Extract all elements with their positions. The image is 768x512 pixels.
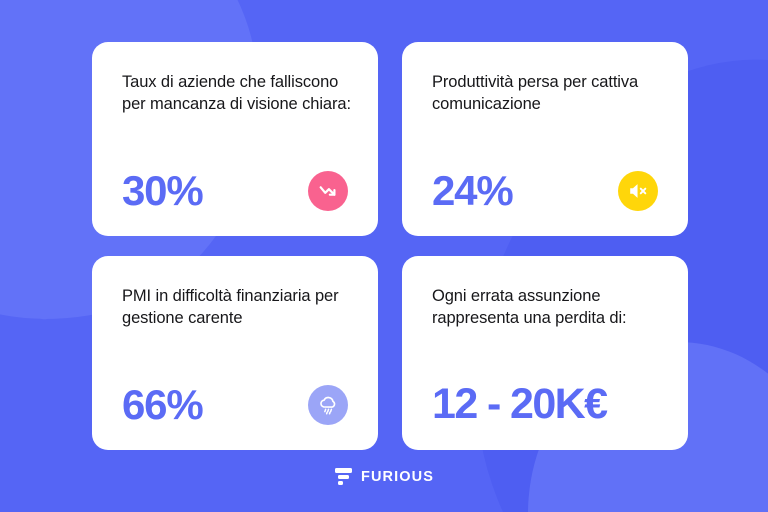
stat-card-grid: Taux di aziende che falliscono per manca…: [92, 42, 690, 450]
stat-card-heading: Taux di aziende che falliscono per manca…: [122, 72, 352, 116]
stat-card: Ogni errata assunzione rappresenta una p…: [402, 256, 688, 450]
rain-cloud-icon: [308, 385, 348, 425]
stat-card-bottom: 24%: [432, 170, 662, 212]
stat-card-value: 24%: [432, 170, 512, 212]
stat-card: PMI in difficoltà finanziaria per gestio…: [92, 256, 378, 450]
stat-card-bottom: 66%: [122, 384, 352, 426]
stat-card-value: 30%: [122, 170, 202, 212]
stat-card-heading: PMI in difficoltà finanziaria per gestio…: [122, 286, 352, 330]
trending-down-icon: [308, 171, 348, 211]
furious-logo-icon: [334, 467, 353, 486]
stat-card: Produttività persa per cattiva comunicaz…: [402, 42, 688, 236]
stat-card-value: 66%: [122, 384, 202, 426]
speaker-mute-icon: [618, 171, 658, 211]
stat-card-bottom: 12 - 20K€: [432, 383, 662, 426]
stat-card-bottom: 30%: [122, 170, 352, 212]
stat-card-heading: Produttività persa per cattiva comunicaz…: [432, 72, 662, 116]
stat-cards-stage: Taux di aziende che falliscono per manca…: [0, 0, 768, 512]
brand-wordmark: FURIOUS: [361, 469, 434, 485]
stat-card-value: 12 - 20K€: [432, 383, 606, 426]
footer-branding: FURIOUS: [0, 467, 768, 486]
stat-card: Taux di aziende che falliscono per manca…: [92, 42, 378, 236]
stat-card-heading: Ogni errata assunzione rappresenta una p…: [432, 286, 662, 330]
